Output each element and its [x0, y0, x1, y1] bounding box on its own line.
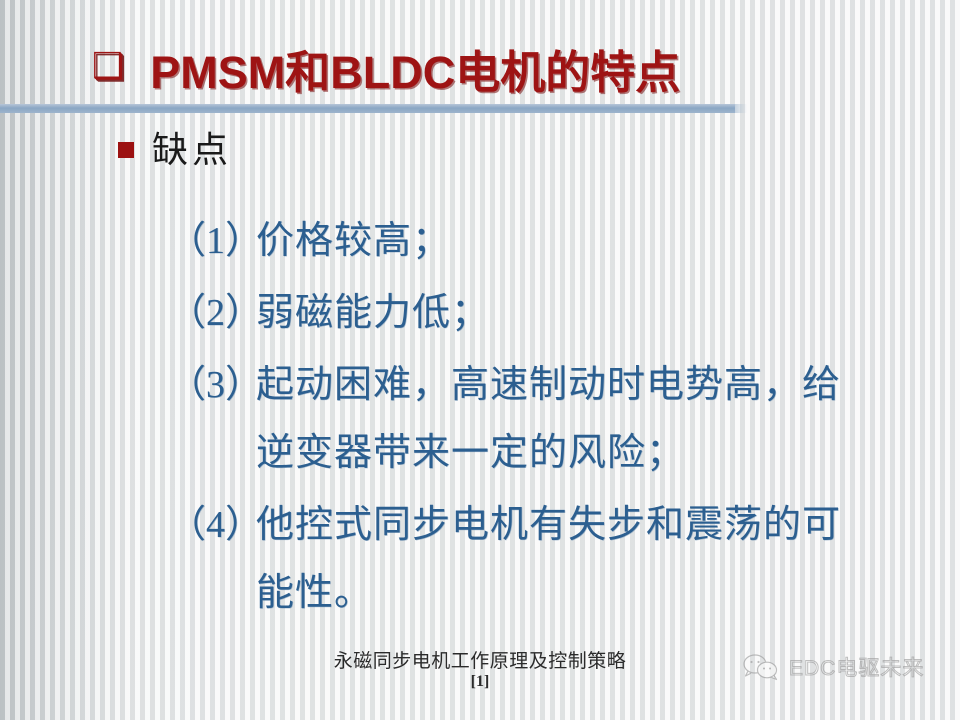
- title-underline-rule: [0, 104, 735, 113]
- list-item-text-line1: 他控式同步电机有失步和震荡的可: [256, 504, 841, 546]
- list-item-marker: （2）: [168, 294, 256, 332]
- subheading-label: 缺点: [152, 132, 232, 168]
- list-item: （2） 弱磁能力低；: [168, 294, 928, 332]
- footer-title: 永磁同步电机工作原理及控制策略: [0, 652, 960, 672]
- list-item-marker: （1）: [168, 222, 256, 260]
- drawbacks-list: （1） 价格较高； （2） 弱磁能力低； （3） 起动困难，高速制动时电势高，给…: [168, 222, 928, 646]
- watermark-label: EDC电驱未来: [789, 652, 924, 682]
- watermark: EDC电驱未来: [742, 652, 924, 682]
- list-item-text-line2: 能性。: [256, 574, 928, 612]
- list-item-text: 起动困难，高速制动时电势高，给 逆变器带来一定的风险；: [256, 366, 928, 472]
- list-item-marker: （3）: [168, 366, 256, 404]
- list-item-text-line1: 起动困难，高速制动时电势高，给: [256, 364, 841, 406]
- list-item-text-line2: 逆变器带来一定的风险；: [256, 434, 928, 472]
- slide-title-row: ❑ PMSM和BLDC电机的特点: [92, 36, 680, 101]
- page-number: [1]: [0, 672, 960, 693]
- list-item-text: 弱磁能力低；: [256, 294, 928, 332]
- hollow-square-bullet-icon: ❑: [92, 49, 124, 85]
- page-title: PMSM和BLDC电机的特点: [150, 36, 680, 101]
- slide-footer: 永磁同步电机工作原理及控制策略 [1]: [0, 652, 960, 693]
- list-item: （1） 价格较高；: [168, 222, 928, 260]
- wechat-logo-icon: [742, 653, 780, 681]
- title-underline-rule-tail: [735, 104, 747, 113]
- subheading-row: 缺点: [118, 132, 232, 168]
- list-item-text: 他控式同步电机有失步和震荡的可 能性。: [256, 506, 928, 612]
- list-item-marker: （4）: [168, 506, 256, 544]
- filled-square-bullet-icon: [118, 142, 134, 158]
- list-item: （4） 他控式同步电机有失步和震荡的可 能性。: [168, 506, 928, 612]
- list-item-text: 价格较高；: [256, 222, 928, 260]
- list-item: （3） 起动困难，高速制动时电势高，给 逆变器带来一定的风险；: [168, 366, 928, 472]
- slide-canvas: ❑ PMSM和BLDC电机的特点 缺点 （1） 价格较高； （2） 弱磁能力低；…: [0, 0, 960, 720]
